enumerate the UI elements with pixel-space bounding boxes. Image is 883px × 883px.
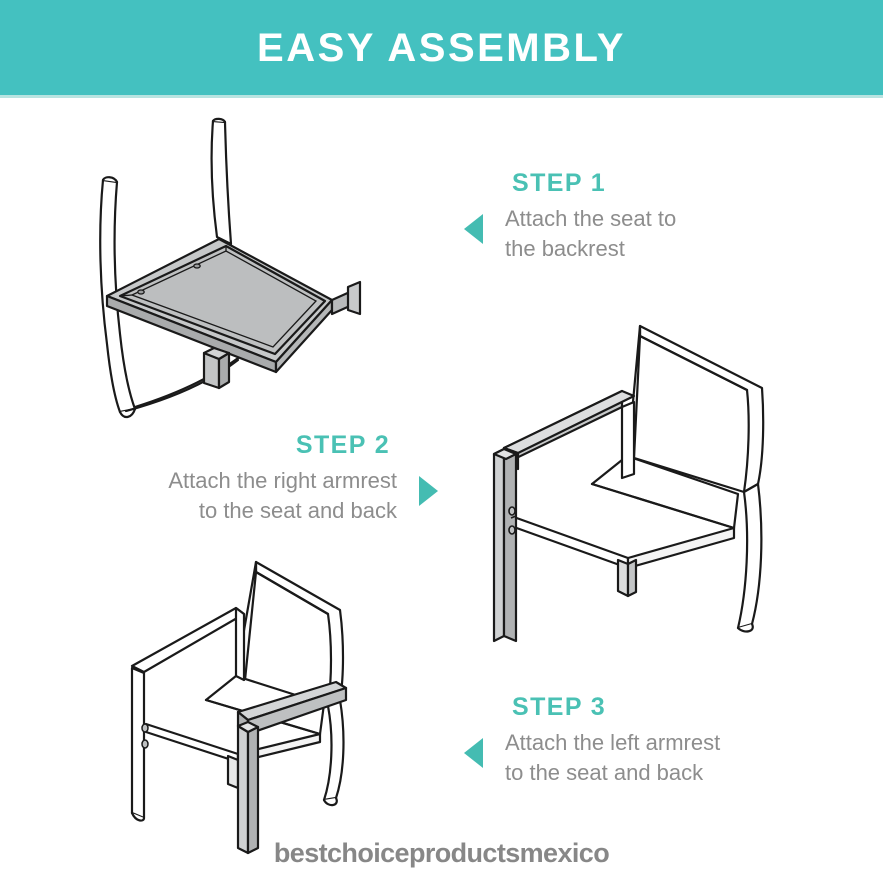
step-2-row: Attach the right armrest to the seat and…: [48, 466, 438, 527]
step-2-heading: STEP 2: [48, 432, 390, 460]
chair-frame-illustration: [62, 104, 382, 439]
chair-one-arm-illustration: [476, 306, 806, 651]
step-1-heading: STEP 1: [512, 170, 676, 198]
arrow-left-icon: [464, 738, 483, 768]
step-3-block: STEP 3 Attach the left armrest to the se…: [464, 694, 720, 788]
page-title: EASY ASSEMBLY: [257, 28, 626, 68]
step-1-body-line-1: Attach the seat to: [505, 204, 676, 234]
step-1-body: Attach the seat to the backrest: [505, 204, 676, 265]
step-2-body-line-1: Attach the right armrest: [168, 466, 397, 496]
step-2-body-line-2: to the seat and back: [168, 496, 397, 526]
arrow-left-icon: [464, 214, 483, 244]
infographic-page: EASY ASSEMBLY: [0, 0, 883, 883]
step-1-body-line-2: the backrest: [505, 234, 676, 264]
step-3-heading: STEP 3: [512, 694, 720, 722]
step-3-body-line-2: to the seat and back: [505, 758, 720, 788]
step-3-body: Attach the left armrest to the seat and …: [505, 728, 720, 789]
step-3-body-line-1: Attach the left armrest: [505, 728, 720, 758]
step-3-row: Attach the left armrest to the seat and …: [464, 728, 720, 789]
header-underline-divider: [0, 95, 883, 98]
header-banner: EASY ASSEMBLY: [0, 0, 883, 95]
arrow-right-icon: [419, 476, 438, 506]
step-1-row: Attach the seat to the backrest: [464, 204, 676, 265]
footer-brand-text: bestchoiceproductsmexico: [0, 838, 883, 869]
step-2-body: Attach the right armrest to the seat and…: [168, 466, 397, 527]
step-2-block: STEP 2 Attach the right armrest to the s…: [48, 432, 438, 526]
step-1-block: STEP 1 Attach the seat to the backrest: [464, 170, 676, 264]
chair-complete-illustration: [118, 548, 438, 873]
